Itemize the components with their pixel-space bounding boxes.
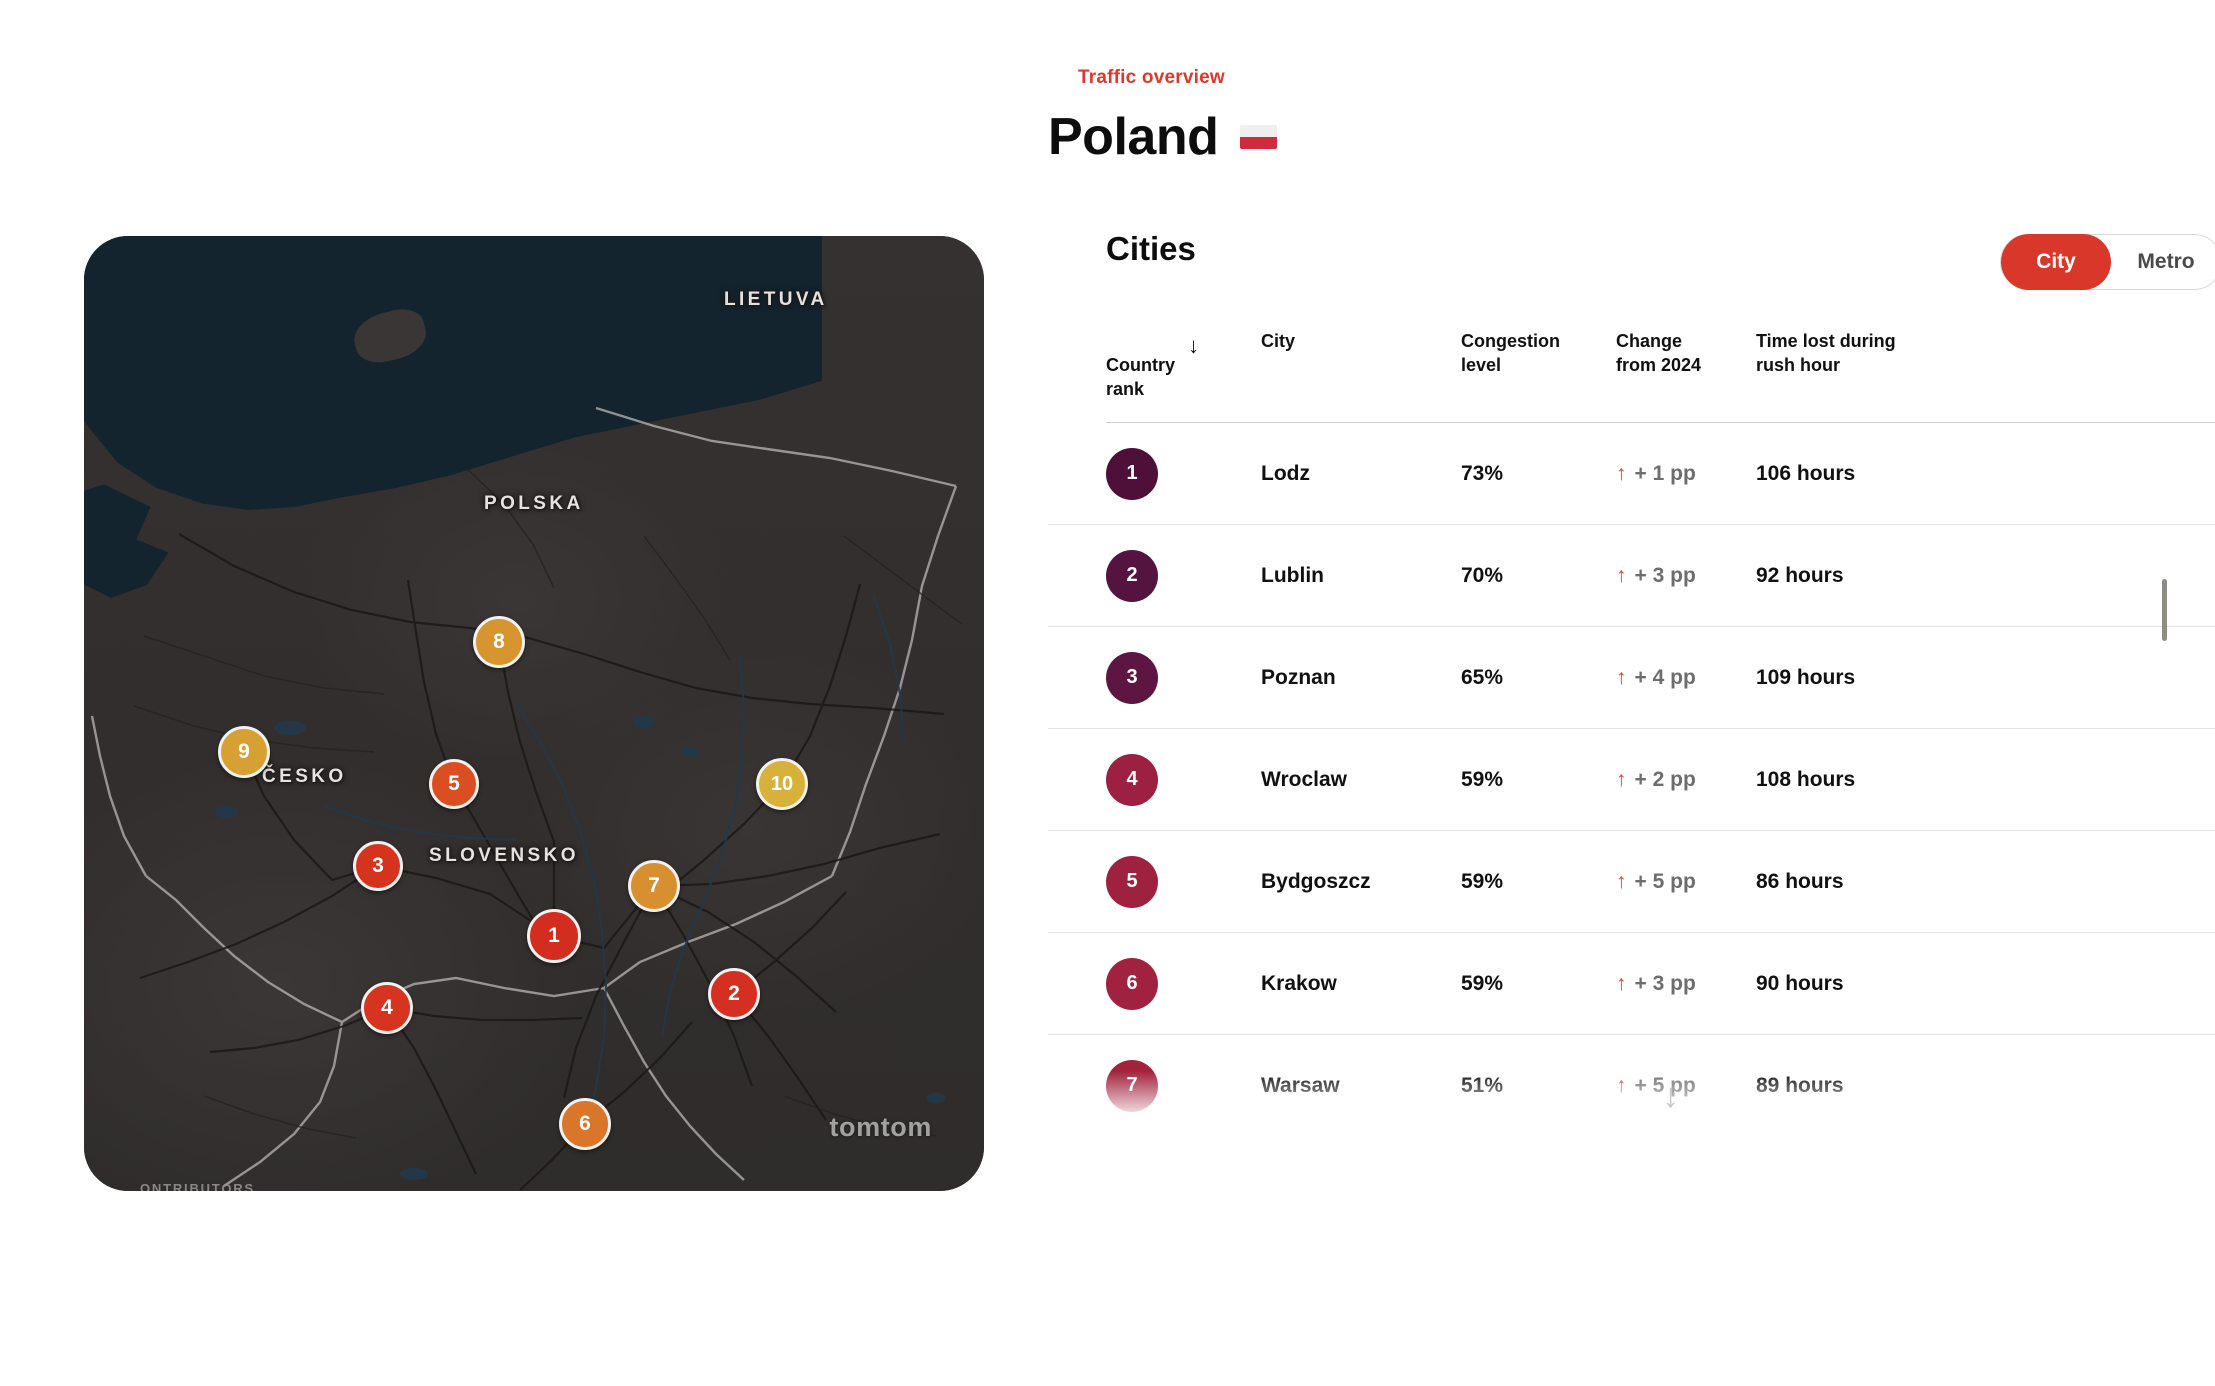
cell-country-rank: 2	[1106, 550, 1261, 602]
table-row[interactable]: 3Poznan65%↑+ 4 pp109 hours	[1048, 627, 2215, 729]
column-header-country-rank-label: Country rank	[1106, 355, 1175, 399]
map-card[interactable]: LIETUVA POLSKA ČESKO SLOVENSKO 123456789…	[84, 236, 984, 1191]
map-marker-label: 10	[771, 773, 793, 796]
map-marker-label: 2	[728, 982, 740, 1006]
cell-time-lost: 86 hours	[1756, 870, 1996, 894]
change-value: + 4 pp	[1635, 666, 1696, 690]
rank-badge: 4	[1106, 754, 1158, 806]
cell-city: Warsaw	[1261, 1074, 1461, 1098]
table-header-row: Country rank ↓ City Congestion level Cha…	[1048, 330, 2215, 422]
flag-stripe-red	[1240, 137, 1277, 149]
traffic-overview-page: LIETUVA POLSKA ČESKO SLOVENSKO 123456789…	[0, 0, 2215, 1386]
arrow-up-icon: ↑	[1616, 565, 1627, 586]
cell-congestion-level: 59%	[1461, 768, 1616, 792]
cell-city: Krakow	[1261, 972, 1461, 996]
table-row[interactable]: 1Lodz73%↑+ 1 pp106 hours	[1048, 423, 2215, 525]
country-header: Poland	[1048, 107, 1277, 167]
map-marker-label: 6	[579, 1112, 591, 1136]
cell-country-rank: 3	[1106, 652, 1261, 704]
change-value: + 1 pp	[1635, 462, 1696, 486]
map-marker-rank-3[interactable]: 3	[353, 841, 403, 891]
rank-badge: 3	[1106, 652, 1158, 704]
cell-congestion-level: 70%	[1461, 564, 1616, 588]
column-header-congestion-level[interactable]: Congestion level	[1461, 330, 1616, 378]
table-body[interactable]: 1Lodz73%↑+ 1 pp106 hours2Lublin70%↑+ 3 p…	[1048, 423, 2215, 1137]
table-row[interactable]: 7Warsaw51%↑+ 5 pp89 hours	[1048, 1035, 2215, 1137]
change-value: + 3 pp	[1635, 972, 1696, 996]
cell-time-lost: 108 hours	[1756, 768, 1996, 792]
cell-congestion-level: 65%	[1461, 666, 1616, 690]
column-header-country-rank[interactable]: Country rank ↓	[1106, 330, 1261, 426]
map-marker-label: 4	[381, 996, 393, 1020]
map-marker-label: 1	[548, 924, 560, 948]
arrow-up-icon: ↑	[1616, 667, 1627, 688]
cell-country-rank: 6	[1106, 958, 1261, 1010]
cell-change-from-2024: ↑+ 3 pp	[1616, 972, 1756, 996]
cell-change-from-2024: ↑+ 4 pp	[1616, 666, 1756, 690]
sort-down-icon[interactable]: ↓	[1188, 335, 1199, 357]
table-row[interactable]: 2Lublin70%↑+ 3 pp92 hours	[1048, 525, 2215, 627]
city-metro-toggle[interactable]: City Metro	[2000, 234, 2215, 290]
cell-time-lost: 89 hours	[1756, 1074, 1996, 1098]
column-header-time-lost[interactable]: Time lost during rush hour	[1756, 330, 1996, 378]
cell-change-from-2024: ↑+ 5 pp	[1616, 1074, 1756, 1098]
table-row[interactable]: 4Wroclaw59%↑+ 2 pp108 hours	[1048, 729, 2215, 831]
cell-country-rank: 7	[1106, 1060, 1261, 1112]
cities-table: Country rank ↓ City Congestion level Cha…	[1048, 330, 2215, 1137]
rank-badge: 2	[1106, 550, 1158, 602]
cell-country-rank: 1	[1106, 448, 1261, 500]
table-scrollbar-thumb[interactable]	[2162, 579, 2167, 641]
map-marker-label: 5	[448, 772, 460, 796]
cell-change-from-2024: ↑+ 3 pp	[1616, 564, 1756, 588]
eyebrow-label: Traffic overview	[1078, 67, 1225, 89]
flag-stripe-white	[1240, 125, 1277, 137]
cell-change-from-2024: ↑+ 5 pp	[1616, 870, 1756, 894]
tomtom-logo: tomtom	[829, 1112, 932, 1143]
map-marker-rank-1[interactable]: 1	[527, 909, 581, 963]
map-vector-layer	[84, 236, 984, 1191]
cell-city: Poznan	[1261, 666, 1461, 690]
toggle-option-metro[interactable]: Metro	[2111, 234, 2215, 290]
cell-city: Lublin	[1261, 564, 1461, 588]
table-row[interactable]: 5Bydgoszcz59%↑+ 5 pp86 hours	[1048, 831, 2215, 933]
map-marker-label: 9	[238, 740, 250, 764]
map-marker-rank-10[interactable]: 10	[756, 758, 808, 810]
column-header-change-from-2024[interactable]: Change from 2024	[1616, 330, 1756, 378]
cell-time-lost: 109 hours	[1756, 666, 1996, 690]
toggle-option-city[interactable]: City	[2001, 234, 2111, 290]
map-marker-rank-6[interactable]: 6	[559, 1098, 611, 1150]
map-marker-rank-4[interactable]: 4	[361, 982, 413, 1034]
cell-time-lost: 90 hours	[1756, 972, 1996, 996]
change-value: + 2 pp	[1635, 768, 1696, 792]
arrow-up-icon: ↑	[1616, 769, 1627, 790]
map-marker-rank-2[interactable]: 2	[708, 968, 760, 1020]
cell-city: Wroclaw	[1261, 768, 1461, 792]
cell-congestion-level: 59%	[1461, 870, 1616, 894]
right-panel: Traffic overview Poland Cities City Metr…	[1048, 0, 2215, 1386]
change-value: + 5 pp	[1635, 870, 1696, 894]
map-marker-label: 7	[648, 874, 660, 898]
column-header-city[interactable]: City	[1261, 330, 1461, 354]
cell-change-from-2024: ↑+ 1 pp	[1616, 462, 1756, 486]
rank-badge: 6	[1106, 958, 1158, 1010]
arrow-up-icon: ↑	[1616, 463, 1627, 484]
page-title: Poland	[1048, 107, 1218, 167]
cell-city: Bydgoszcz	[1261, 870, 1461, 894]
cell-change-from-2024: ↑+ 2 pp	[1616, 768, 1756, 792]
map-marker-rank-7[interactable]: 7	[628, 860, 680, 912]
rank-badge: 7	[1106, 1060, 1158, 1112]
section-title: Cities	[1106, 230, 1196, 268]
cell-country-rank: 5	[1106, 856, 1261, 908]
cell-time-lost: 106 hours	[1756, 462, 1996, 486]
arrow-up-icon: ↑	[1616, 973, 1627, 994]
poland-flag-icon	[1240, 125, 1277, 149]
cell-time-lost: 92 hours	[1756, 564, 1996, 588]
map-attribution-text: ONTRIBUTORS	[140, 1181, 255, 1191]
map-marker-rank-5[interactable]: 5	[429, 759, 479, 809]
map-marker-rank-9[interactable]: 9	[218, 726, 270, 778]
map-marker-label: 8	[493, 630, 505, 654]
scroll-down-icon[interactable]: ↓	[1662, 1079, 1679, 1113]
cell-congestion-level: 59%	[1461, 972, 1616, 996]
table-row[interactable]: 6Krakow59%↑+ 3 pp90 hours	[1048, 933, 2215, 1035]
cell-city: Lodz	[1261, 462, 1461, 486]
cell-country-rank: 4	[1106, 754, 1261, 806]
arrow-up-icon: ↑	[1616, 871, 1627, 892]
cell-congestion-level: 51%	[1461, 1074, 1616, 1098]
map-marker-label: 3	[372, 854, 384, 878]
change-value: + 3 pp	[1635, 564, 1696, 588]
map-marker-rank-8[interactable]: 8	[473, 616, 525, 668]
rank-badge: 1	[1106, 448, 1158, 500]
arrow-up-icon: ↑	[1616, 1075, 1627, 1096]
cell-congestion-level: 73%	[1461, 462, 1616, 486]
rank-badge: 5	[1106, 856, 1158, 908]
